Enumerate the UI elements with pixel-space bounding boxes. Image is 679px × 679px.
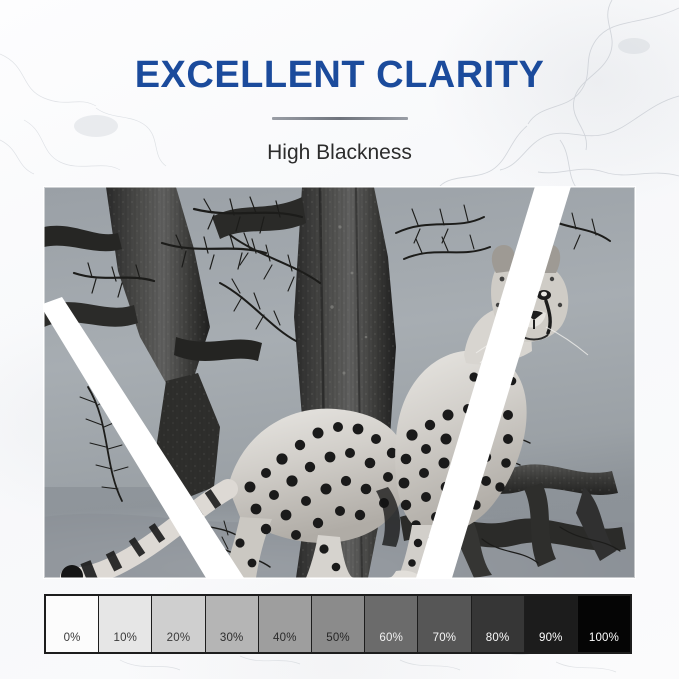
cheetah-photo-artwork bbox=[44, 187, 635, 578]
grayscale-swatch: 0% bbox=[46, 596, 98, 652]
grayscale-swatch-label: 80% bbox=[486, 632, 510, 652]
page-title: EXCELLENT CLARITY bbox=[0, 0, 679, 96]
cheetah-photo bbox=[44, 187, 635, 578]
grayscale-swatch-label: 50% bbox=[326, 632, 350, 652]
grayscale-swatch-label: 20% bbox=[167, 632, 191, 652]
grayscale-swatch-label: 0% bbox=[64, 632, 81, 652]
grayscale-swatch: 60% bbox=[365, 596, 417, 652]
grayscale-swatch: 50% bbox=[312, 596, 364, 652]
grayscale-swatch-label: 100% bbox=[589, 632, 619, 652]
grayscale-swatch: 30% bbox=[206, 596, 258, 652]
header: EXCELLENT CLARITY High Blackness bbox=[0, 0, 679, 165]
grayscale-swatch-label: 30% bbox=[220, 632, 244, 652]
page-subtitle: High Blackness bbox=[0, 120, 679, 165]
grayscale-swatch-label: 10% bbox=[113, 632, 137, 652]
grayscale-swatch: 70% bbox=[418, 596, 470, 652]
page-root: EXCELLENT CLARITY High Blackness bbox=[0, 0, 679, 679]
grayscale-swatch-label: 70% bbox=[433, 632, 457, 652]
grayscale-swatch: 20% bbox=[152, 596, 204, 652]
grayscale-swatch-label: 40% bbox=[273, 632, 297, 652]
grayscale-density-strip: 0%10%20%30%40%50%60%70%80%90%100% bbox=[44, 594, 632, 654]
grayscale-swatch: 10% bbox=[99, 596, 151, 652]
grayscale-swatch-label: 60% bbox=[379, 632, 403, 652]
grayscale-swatch: 80% bbox=[472, 596, 524, 652]
grayscale-swatch: 100% bbox=[578, 596, 630, 652]
grayscale-swatch-label: 90% bbox=[539, 632, 563, 652]
grayscale-swatch: 40% bbox=[259, 596, 311, 652]
grayscale-swatch: 90% bbox=[525, 596, 577, 652]
